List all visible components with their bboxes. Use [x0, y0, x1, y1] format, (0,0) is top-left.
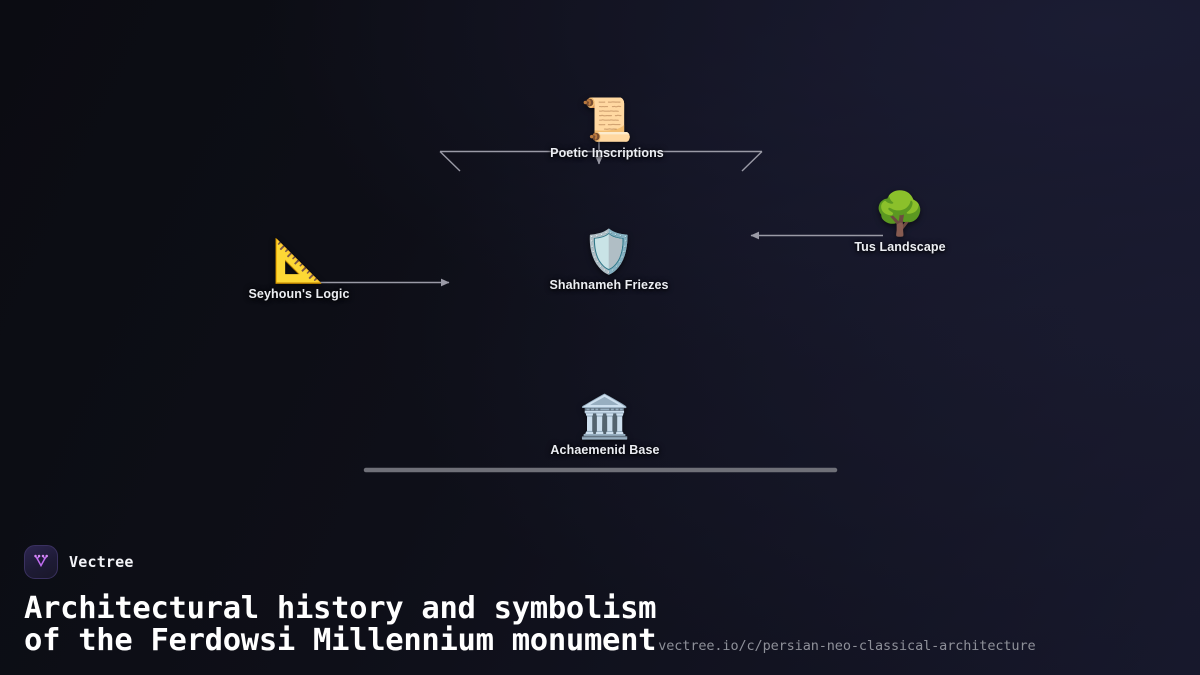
- node-achaemenid-base[interactable]: 🏛️ Achaemenid Base: [550, 393, 659, 457]
- page-title: Architectural history and symbolism of t…: [24, 593, 656, 657]
- node-poetic-inscriptions[interactable]: 📜 Poetic Inscriptions: [550, 96, 664, 160]
- vectree-logo-icon: [24, 545, 58, 579]
- node-label: Shahnameh Friezes: [549, 278, 668, 292]
- classical-building-icon: 🏛️: [579, 393, 631, 441]
- node-tus-landscape[interactable]: 🌳 Tus Landscape: [854, 190, 945, 254]
- shield-icon: 🛡️: [583, 228, 635, 276]
- node-label: Seyhoun's Logic: [248, 287, 349, 301]
- diagram-canvas[interactable]: 📜 Poetic Inscriptions 📐 Seyhoun's Logic …: [0, 0, 1200, 520]
- title-row: Architectural history and symbolism of t…: [24, 593, 1176, 657]
- brand[interactable]: Vectree: [24, 545, 1176, 579]
- node-label: Achaemenid Base: [550, 443, 659, 457]
- scroll-icon: 📜: [581, 96, 633, 144]
- triangular-ruler-icon: 📐: [273, 237, 325, 285]
- footer-bar: Vectree Architectural history and symbol…: [0, 545, 1200, 675]
- diagram-page: 📜 Poetic Inscriptions 📐 Seyhoun's Logic …: [0, 0, 1200, 675]
- node-seyhouns-logic[interactable]: 📐 Seyhoun's Logic: [248, 237, 349, 301]
- source-url[interactable]: vectree.io/c/persian-neo-classical-archi…: [658, 638, 1035, 657]
- tree-icon: 🌳: [874, 190, 926, 238]
- node-label: Poetic Inscriptions: [550, 146, 664, 160]
- node-shahnameh-friezes[interactable]: 🛡️ Shahnameh Friezes: [549, 228, 668, 292]
- brand-name: Vectree: [69, 553, 134, 571]
- node-label: Tus Landscape: [854, 240, 945, 254]
